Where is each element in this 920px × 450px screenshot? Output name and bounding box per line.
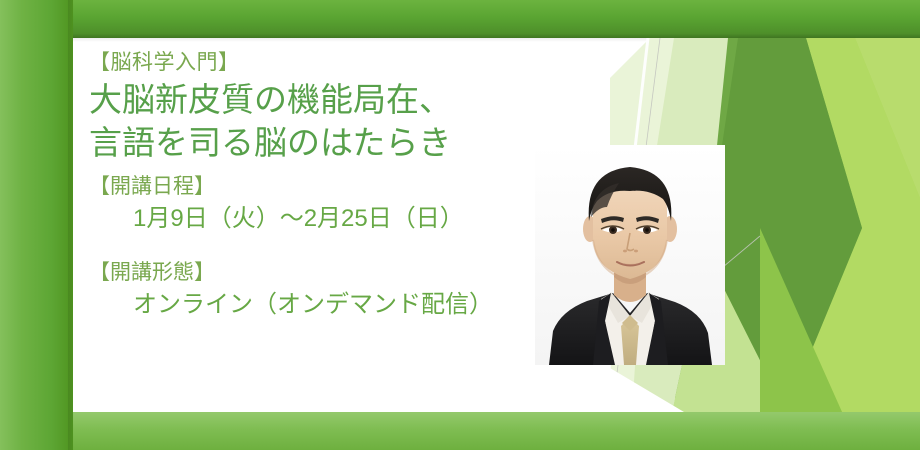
course-title-line-2: 言語を司る脳のはたらき (89, 121, 559, 164)
instructor-portrait (535, 145, 725, 365)
course-banner-slide: 【脳科学入門】 大脳新皮質の機能局在、 言語を司る脳のはたらき 【開講日程】 1… (0, 0, 920, 450)
course-title-line-1: 大脳新皮質の機能局在、 (89, 78, 559, 121)
format-heading: 【開講形態】 (89, 258, 559, 288)
schedule-value: 1月9日（火）〜2月25日（日） (89, 202, 559, 236)
course-text-block: 【脳科学入門】 大脳新皮質の機能局在、 言語を司る脳のはたらき 【開講日程】 1… (89, 48, 559, 322)
bottom-green-band (0, 412, 920, 450)
format-value: オンライン（オンデマンド配信） (89, 288, 559, 322)
top-green-band (0, 0, 920, 38)
spacer-after-title (89, 164, 559, 172)
left-green-bar (0, 0, 73, 450)
schedule-heading: 【開講日程】 (89, 172, 559, 202)
content-card: 【脳科学入門】 大脳新皮質の機能局在、 言語を司る脳のはたらき 【開講日程】 1… (73, 38, 920, 412)
course-kicker: 【脳科学入門】 (89, 48, 559, 78)
spacer-between-sections (89, 236, 559, 258)
